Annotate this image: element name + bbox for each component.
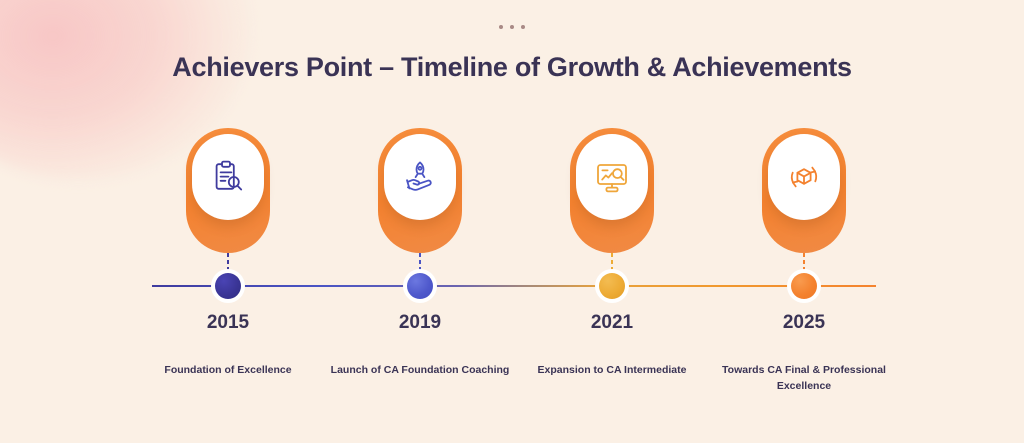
milestone-capsule <box>570 128 654 253</box>
milestone-capsule <box>762 128 846 253</box>
milestone-icon-bubble <box>768 134 840 220</box>
milestone-caption: Expansion to CA Intermediate <box>512 363 712 379</box>
milestone-dot <box>791 273 817 299</box>
milestone-capsule <box>378 128 462 253</box>
timeline-milestone[interactable]: 2019 Launch of CA Foundation Coaching <box>320 0 520 443</box>
milestone-dot <box>407 273 433 299</box>
milestone-icon-bubble <box>192 134 264 220</box>
presentation-analytics-search-icon <box>592 157 632 197</box>
timeline-milestone[interactable]: 2025 Towards CA Final & Professional Exc… <box>704 0 904 443</box>
milestone-dot-ring <box>787 269 821 303</box>
cube-refresh-icon <box>784 157 824 197</box>
infographic-canvas: Achievers Point – Timeline of Growth & A… <box>0 0 1024 443</box>
timeline: 2015 Foundation of Excellence <box>0 0 1024 443</box>
milestone-dot <box>599 273 625 299</box>
milestone-year: 2025 <box>704 312 904 334</box>
milestone-dot <box>215 273 241 299</box>
timeline-milestone[interactable]: 2021 Expansion to CA Intermediate <box>512 0 712 443</box>
milestone-dot-ring <box>595 269 629 303</box>
milestone-year: 2021 <box>512 312 712 334</box>
milestone-caption: Launch of CA Foundation Coaching <box>320 363 520 379</box>
timeline-milestone[interactable]: 2015 Foundation of Excellence <box>128 0 328 443</box>
milestone-capsule <box>186 128 270 253</box>
milestone-dot-ring <box>403 269 437 303</box>
milestone-dot-ring <box>211 269 245 303</box>
milestone-icon-bubble <box>576 134 648 220</box>
clipboard-search-icon <box>208 157 248 197</box>
milestone-caption: Foundation of Excellence <box>128 363 328 379</box>
milestone-caption: Towards CA Final & Professional Excellen… <box>704 363 904 395</box>
milestone-year: 2015 <box>128 312 328 334</box>
milestone-icon-bubble <box>384 134 456 220</box>
hand-rocket-icon <box>400 157 440 197</box>
milestone-year: 2019 <box>320 312 520 334</box>
